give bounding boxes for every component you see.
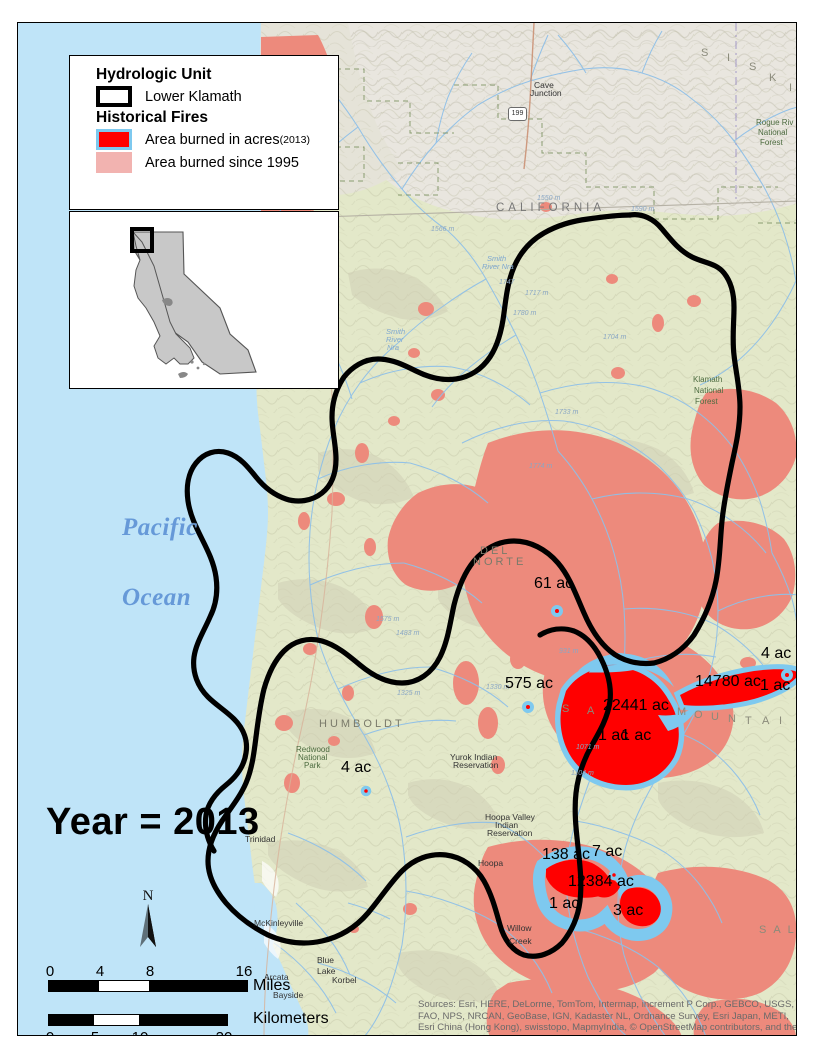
map-attribution: Sources: Esri, HERE, DeLorme, TomTom, In… bbox=[418, 999, 797, 1036]
fire-acreage-label-f-575: 575 ac bbox=[505, 675, 553, 693]
fire-acreage-label-f-7: 7 ac bbox=[592, 843, 622, 861]
inset-locator-map[interactable] bbox=[69, 211, 339, 389]
place-label: A bbox=[587, 707, 601, 716]
kilometers-unit-label: Kilometers bbox=[253, 1010, 329, 1028]
map-frame[interactable]: CaveJunctionSISKIRogue RivNationalForest… bbox=[17, 22, 797, 1036]
place-label: S bbox=[701, 49, 715, 58]
fire-acreage-label-f-22441: 22441 ac bbox=[603, 697, 669, 715]
place-label: NORTE bbox=[473, 558, 526, 567]
km-tick-0: 0 bbox=[46, 1029, 54, 1036]
place-label: 1733 m bbox=[555, 409, 578, 418]
place-label: S bbox=[562, 705, 576, 714]
fire-acreage-label-f-3: 3 ac bbox=[613, 902, 643, 920]
north-arrow-letter: N bbox=[126, 889, 170, 903]
place-label: Reservation bbox=[487, 829, 532, 838]
fire-acreage-label-f-14780: 14780 ac bbox=[695, 673, 761, 691]
place-label: SALMON bbox=[759, 926, 797, 935]
place-label: National bbox=[694, 387, 723, 396]
year-overlay-label: Year = 2013 bbox=[46, 801, 260, 844]
legend-label-lower-klamath: Lower Klamath bbox=[145, 89, 242, 105]
place-label: Rogue Riv bbox=[756, 119, 793, 128]
miles-tick-row: 0 4 8 16 bbox=[48, 963, 278, 980]
place-label: River Nra bbox=[482, 263, 514, 272]
ocean-label-line2: Ocean bbox=[122, 563, 198, 633]
place-label: 1071 m bbox=[576, 744, 599, 753]
ocean-label-line1: Pacific bbox=[122, 493, 198, 563]
place-label: 1575 m bbox=[376, 616, 399, 625]
current-fire-swatch-icon bbox=[96, 129, 132, 150]
legend-panel[interactable]: Hydrologic Unit Lower Klamath Historical… bbox=[69, 55, 339, 210]
km-tick-row: 0 5 10 20 bbox=[48, 1029, 278, 1036]
fire-acreage-label-f-1d: 1 ac bbox=[549, 895, 579, 913]
miles-tick-8: 8 bbox=[146, 963, 154, 980]
fire-acreage-label-f-4tr: 4 ac bbox=[761, 645, 791, 663]
place-label: Park bbox=[304, 762, 320, 771]
place-label: Reservation bbox=[453, 761, 498, 770]
km-tick-20: 20 bbox=[216, 1029, 233, 1036]
place-label: I bbox=[789, 84, 797, 93]
km-tick-10: 10 bbox=[132, 1029, 149, 1036]
place-label: U bbox=[711, 713, 726, 722]
place-label: 1717 m bbox=[525, 290, 548, 299]
place-label: I bbox=[727, 54, 737, 63]
place-label: T bbox=[745, 717, 759, 726]
hydrologic-unit-swatch-icon bbox=[96, 86, 132, 107]
place-label: 1550 m bbox=[537, 195, 560, 204]
km-tick-5: 5 bbox=[91, 1029, 99, 1036]
historical-fire-swatch-icon bbox=[96, 152, 132, 173]
place-label: McKinleyville bbox=[254, 919, 303, 928]
place-label: Klamath bbox=[693, 376, 722, 385]
fire-acreage-label-f-61: 61 ac bbox=[534, 575, 573, 593]
kilometers-scale-bar: Kilometers bbox=[48, 1014, 228, 1026]
place-label: 1774 m bbox=[529, 463, 552, 472]
place-label: O bbox=[694, 711, 710, 720]
fire-acreage-label-f-4left: 4 ac bbox=[341, 759, 371, 777]
fire-acreage-label-f-1c: 1 ac bbox=[760, 677, 790, 695]
place-label: 1780 m bbox=[513, 310, 536, 319]
fire-acreage-label-f-12384: 12384 ac bbox=[568, 873, 634, 891]
miles-tick-4: 4 bbox=[96, 963, 104, 980]
miles-unit-label: Miles bbox=[253, 977, 290, 995]
place-label: 1104 m bbox=[571, 770, 594, 779]
legend-row-current-fire[interactable]: Area burned in acres(2013) bbox=[96, 129, 338, 150]
place-label: Forest bbox=[695, 398, 718, 407]
pacific-ocean-label: Pacific Ocean bbox=[122, 493, 198, 633]
place-label: 1704 m bbox=[603, 334, 626, 343]
place-label: National bbox=[758, 129, 787, 138]
place-label: N bbox=[728, 715, 743, 724]
legend-hydrologic-unit-title: Hydrologic Unit bbox=[96, 66, 338, 84]
fire-acreage-label-f-138: 138 ac bbox=[542, 846, 590, 864]
place-label: 1747 bbox=[499, 279, 515, 288]
place-label: K bbox=[769, 74, 783, 83]
place-label: I bbox=[779, 717, 789, 726]
north-arrow-icon bbox=[136, 903, 160, 949]
legend-label-current-fire-year: (2013) bbox=[280, 134, 310, 146]
place-label: DEL bbox=[480, 547, 510, 556]
legend-label-historical-fire: Area burned since 1995 bbox=[145, 155, 299, 171]
place-label: 931 m bbox=[559, 648, 578, 657]
highway-shield-icon: 199 bbox=[508, 107, 527, 121]
place-label: Forest bbox=[760, 139, 783, 148]
place-label: CALIFORNIA bbox=[496, 204, 605, 213]
place-label: M bbox=[677, 708, 693, 717]
place-label: 1325 m bbox=[397, 690, 420, 699]
place-label: Creek bbox=[509, 937, 532, 946]
place-label: A bbox=[762, 717, 776, 726]
california-outline-icon bbox=[70, 212, 338, 388]
place-label: Blue bbox=[317, 956, 334, 965]
place-label: S bbox=[749, 63, 763, 72]
place-label: Nra bbox=[387, 344, 399, 353]
place-label: 1590 m bbox=[631, 206, 654, 215]
miles-scale-bar: Miles bbox=[48, 980, 248, 992]
fire-acreage-label-f-1b: 1 ac bbox=[621, 727, 651, 745]
place-label: Willow bbox=[507, 924, 532, 933]
place-label: Hoopa bbox=[478, 859, 503, 868]
place-label: 1566 m bbox=[431, 226, 454, 235]
scale-bars: 0 4 8 16 Miles Kilometers 0 5 10 20 bbox=[48, 963, 278, 1036]
place-label: Junction bbox=[530, 89, 562, 98]
north-arrow: N bbox=[126, 889, 170, 954]
place-label: HUMBOLDT bbox=[319, 720, 405, 729]
place-label: Korbel bbox=[332, 976, 357, 985]
legend-row-historical-fire[interactable]: Area burned since 1995 bbox=[96, 152, 338, 173]
legend-label-current-fire: Area burned in acres bbox=[145, 132, 280, 148]
legend-historical-fires-title: Historical Fires bbox=[96, 109, 338, 127]
legend-row-lower-klamath[interactable]: Lower Klamath bbox=[96, 86, 338, 107]
place-label: 1483 m bbox=[396, 630, 419, 639]
miles-tick-0: 0 bbox=[46, 963, 54, 980]
miles-tick-16: 16 bbox=[236, 963, 253, 980]
